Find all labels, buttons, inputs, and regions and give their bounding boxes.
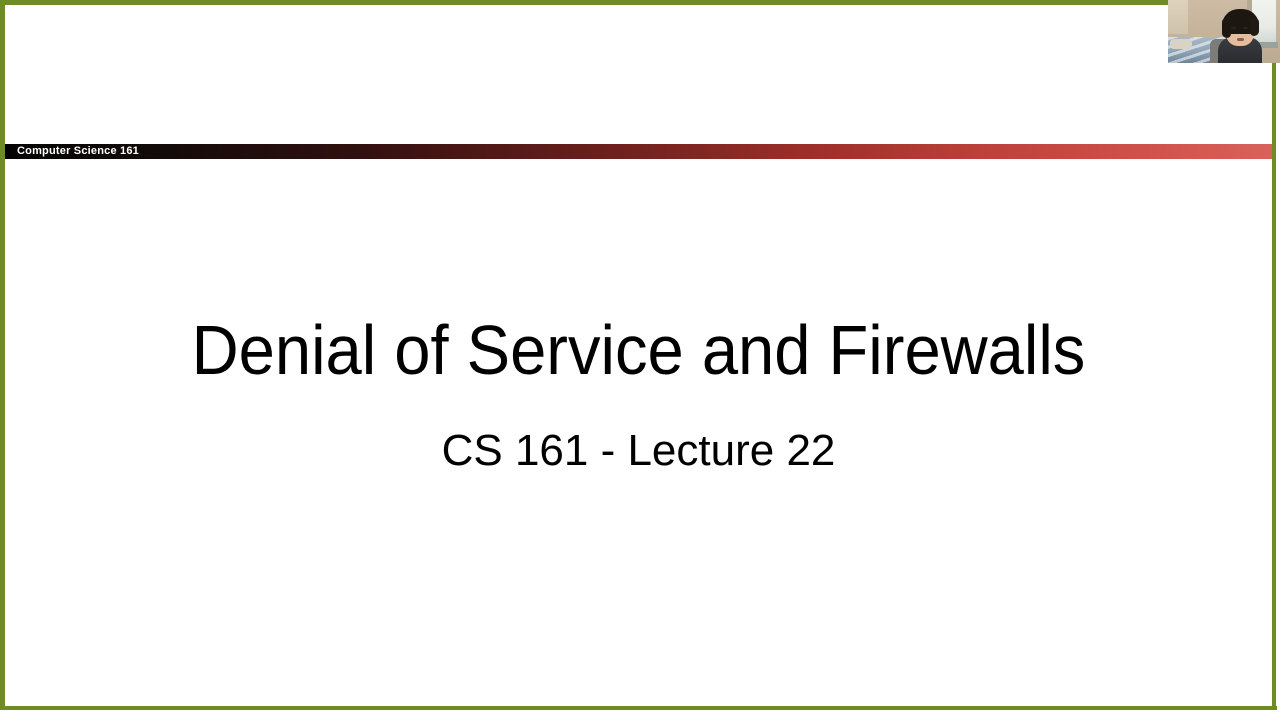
slide-canvas: Computer Science 161 Denial of Service a… bbox=[5, 5, 1272, 706]
webcam-video-frame bbox=[1168, 0, 1280, 63]
presenter-webcam-thumbnail[interactable] bbox=[1168, 0, 1280, 63]
webcam-pillow bbox=[1170, 39, 1192, 49]
slide-subtitle: CS 161 - Lecture 22 bbox=[5, 423, 1272, 479]
webcam-wall-panel bbox=[1168, 0, 1188, 34]
slide-frame-bottom-edge bbox=[0, 706, 1277, 710]
webcam-person-hair-left bbox=[1222, 18, 1231, 38]
slide-viewport[interactable]: Computer Science 161 Denial of Service a… bbox=[0, 0, 1280, 720]
webcam-person-mouth bbox=[1237, 38, 1244, 41]
course-brand-ribbon: Computer Science 161 bbox=[5, 144, 1272, 159]
slide-frame-right-edge bbox=[1272, 0, 1276, 710]
webcam-person-eye-left bbox=[1231, 27, 1236, 29]
screen-root: Computer Science 161 Denial of Service a… bbox=[0, 0, 1280, 720]
webcam-person-eye-right bbox=[1243, 27, 1248, 29]
course-name-label: Computer Science 161 bbox=[17, 145, 139, 158]
webcam-person-hair-right bbox=[1250, 18, 1259, 36]
slide-title: Denial of Service and Firewalls bbox=[49, 310, 1227, 390]
